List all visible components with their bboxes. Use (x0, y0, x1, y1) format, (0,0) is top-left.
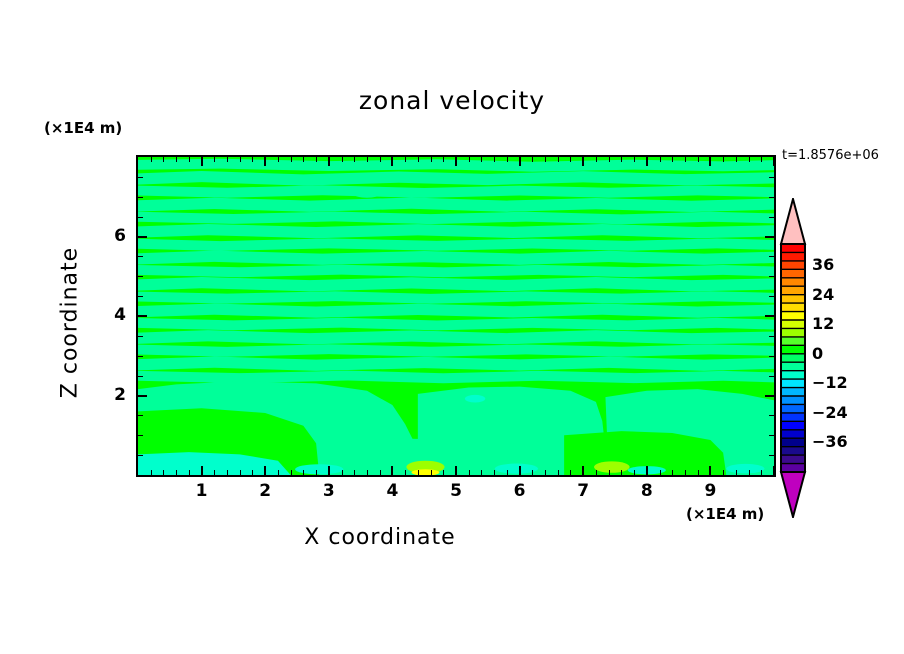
time-stamp-annotation: t=1.8576e+06 (782, 148, 879, 163)
x-tick-top (455, 157, 457, 166)
colorbar-band (781, 303, 805, 312)
y-tick (138, 376, 143, 377)
colorbar-band (781, 413, 805, 422)
y-tick-right (769, 197, 774, 198)
x-tick-top (609, 157, 610, 162)
y-tick (138, 177, 143, 178)
y-tick-right (769, 296, 774, 297)
x-tick-top (507, 157, 508, 162)
x-tick (214, 470, 215, 475)
contour-patch (465, 395, 485, 403)
colorbar-over-arrow (781, 199, 805, 244)
x-tick-top (646, 157, 648, 166)
x-tick-label: 6 (500, 481, 540, 501)
colorbar-band (781, 404, 805, 413)
x-tick-top (709, 157, 711, 166)
colorbar-band (781, 252, 805, 261)
x-tick-top (201, 157, 203, 166)
colorbar-band (781, 269, 805, 278)
y-tick (138, 276, 143, 277)
page-title: zonal velocity (0, 86, 904, 115)
colorbar-band (781, 337, 805, 346)
colorbar-band (781, 371, 805, 380)
x-tick-top (596, 157, 597, 162)
contour-field (138, 157, 774, 475)
y-axis-title: Z coordinate (58, 193, 83, 453)
x-tick (570, 470, 571, 475)
colorbar-tick-label: −36 (812, 432, 848, 451)
colorbar-under-arrow (781, 472, 805, 517)
x-tick-top (621, 157, 622, 162)
plot-canvas: zonal velocity (×1E4 m) t=1.8576e+06 (×1… (0, 0, 904, 654)
y-tick-right (769, 217, 774, 218)
x-tick-top (227, 157, 228, 162)
y-tick-right (765, 315, 774, 317)
x-tick (672, 470, 673, 475)
colorbar-band (781, 328, 805, 337)
colorbar-tick-label: −12 (812, 373, 848, 392)
x-tick-top (634, 157, 635, 162)
colorbar-tick-label: 0 (812, 344, 823, 363)
y-tick (138, 356, 143, 357)
colorbar-band (781, 286, 805, 295)
x-tick (163, 470, 164, 475)
x-tick-top (672, 157, 673, 162)
y-tick (138, 315, 147, 317)
x-tick (201, 466, 203, 475)
y-tick-right (769, 455, 774, 456)
x-tick-label: 7 (563, 481, 603, 501)
x-tick (303, 470, 304, 475)
x-tick-top (418, 157, 419, 162)
x-tick (773, 466, 775, 475)
x-tick-top (749, 157, 750, 162)
y-tick-right (765, 236, 774, 238)
y-tick-right (769, 336, 774, 337)
x-tick (455, 466, 457, 475)
x-tick-top (698, 157, 699, 162)
y-tick-right (769, 435, 774, 436)
x-tick-label: 8 (627, 481, 667, 501)
x-tick (532, 470, 533, 475)
x-tick-top (380, 157, 381, 162)
y-tick (138, 296, 143, 297)
x-tick (761, 470, 762, 475)
colorbar-band (781, 421, 805, 430)
x-tick-top (303, 157, 304, 162)
x-tick-top (278, 157, 279, 162)
x-tick (367, 470, 368, 475)
x-tick-top (431, 157, 432, 162)
colorbar-band (781, 261, 805, 270)
x-tick (545, 470, 546, 475)
y-tick-right (769, 177, 774, 178)
y-tick-right (769, 356, 774, 357)
y-tick (138, 256, 143, 257)
colorbar-band (781, 295, 805, 304)
x-tick (405, 470, 406, 475)
x-tick-top (367, 157, 368, 162)
x-tick-top (469, 157, 470, 162)
x-tick (609, 470, 610, 475)
colorbar-tick-label: 24 (812, 285, 834, 304)
x-tick-top (342, 157, 343, 162)
x-tick (431, 470, 432, 475)
colorbar-band (781, 244, 805, 253)
x-tick-top (773, 157, 775, 166)
colorbar-gradient (778, 198, 808, 518)
x-tick (291, 470, 292, 475)
x-tick-top (481, 157, 482, 162)
y-tick (138, 455, 143, 456)
x-tick-label: 5 (436, 481, 476, 501)
x-tick-top (494, 157, 495, 162)
x-tick-top (519, 157, 521, 166)
x-tick (582, 466, 584, 475)
x-tick (698, 470, 699, 475)
colorbar (778, 198, 808, 518)
x-tick (736, 470, 737, 475)
x-tick (391, 466, 393, 475)
x-tick-top (189, 157, 190, 162)
x-axis-title: X coordinate (0, 525, 760, 550)
colorbar-band (781, 312, 805, 321)
x-tick (380, 470, 381, 475)
colorbar-band (781, 388, 805, 397)
x-tick (621, 470, 622, 475)
x-tick-top (405, 157, 406, 162)
x-tick (354, 470, 355, 475)
x-tick-top (582, 157, 584, 166)
y-tick-right (765, 395, 774, 397)
x-tick (646, 466, 648, 475)
y-tick-right (769, 415, 774, 416)
x-tick (227, 470, 228, 475)
x-tick (558, 470, 559, 475)
x-tick (749, 470, 750, 475)
x-tick (596, 470, 597, 475)
contour-patch (295, 464, 343, 474)
x-tick (264, 466, 266, 475)
x-tick-top (328, 157, 330, 166)
x-tick-top (723, 157, 724, 162)
y-tick-label: 4 (90, 305, 126, 325)
x-tick-top (214, 157, 215, 162)
x-tick-top (354, 157, 355, 162)
colorbar-band (781, 320, 805, 329)
contour-patch (594, 461, 630, 472)
x-tick (723, 470, 724, 475)
colorbar-band (781, 430, 805, 439)
x-tick (418, 470, 419, 475)
colorbar-tick-label: 36 (812, 255, 834, 274)
x-tick (634, 470, 635, 475)
y-tick-right (769, 376, 774, 377)
x-tick-top (736, 157, 737, 162)
colorbar-band (781, 345, 805, 354)
x-tick (685, 470, 686, 475)
colorbar-band (781, 447, 805, 456)
y-tick-label: 6 (90, 226, 126, 246)
x-tick-top (660, 157, 661, 162)
x-tick (151, 470, 152, 475)
x-tick (660, 470, 661, 475)
colorbar-band (781, 362, 805, 371)
y-tick (138, 336, 143, 337)
x-tick (316, 470, 317, 475)
x-tick (519, 466, 521, 475)
x-tick (507, 470, 508, 475)
x-tick (709, 466, 711, 475)
x-tick (481, 470, 482, 475)
y-tick-label: 2 (90, 385, 126, 405)
x-tick-top (151, 157, 152, 162)
y-tick (138, 197, 143, 198)
x-tick-top (291, 157, 292, 162)
x-tick (240, 470, 241, 475)
x-tick-top (240, 157, 241, 162)
contour-plot-area (136, 155, 776, 477)
y-tick-right (769, 276, 774, 277)
contour-patch (354, 191, 379, 197)
y-tick (138, 415, 143, 416)
colorbar-tick-label: 12 (812, 314, 834, 333)
colorbar-tick-label: −24 (812, 403, 848, 422)
x-tick-top (570, 157, 571, 162)
x-tick (176, 470, 177, 475)
colorbar-band (781, 455, 805, 464)
x-tick-top (545, 157, 546, 162)
x-tick-label: 9 (690, 481, 730, 501)
x-tick-top (532, 157, 533, 162)
x-tick (443, 470, 444, 475)
x-tick-top (176, 157, 177, 162)
x-tick-top (264, 157, 266, 166)
y-tick (138, 217, 143, 218)
y-axis-unit-label: (×1E4 m) (44, 119, 122, 137)
x-tick (189, 470, 190, 475)
x-tick-label: 3 (309, 481, 349, 501)
colorbar-band (781, 438, 805, 447)
y-tick-right (769, 256, 774, 257)
colorbar-band (781, 396, 805, 405)
x-tick (278, 470, 279, 475)
x-tick-top (761, 157, 762, 162)
x-tick-top (163, 157, 164, 162)
x-tick-top (443, 157, 444, 162)
x-tick-label: 4 (372, 481, 412, 501)
x-tick (342, 470, 343, 475)
x-tick-top (558, 157, 559, 162)
colorbar-band (781, 354, 805, 363)
x-axis-unit-label: (×1E4 m) (686, 505, 764, 523)
x-tick-top (252, 157, 253, 162)
y-tick (138, 236, 147, 238)
y-tick (138, 435, 143, 436)
x-tick-label: 1 (182, 481, 222, 501)
contour-patch (726, 464, 764, 474)
colorbar-band (781, 278, 805, 287)
colorbar-band (781, 379, 805, 388)
x-tick (328, 466, 330, 475)
y-tick (138, 395, 147, 397)
x-tick-top (685, 157, 686, 162)
x-tick (494, 470, 495, 475)
x-tick-top (391, 157, 393, 166)
x-tick-top (316, 157, 317, 162)
x-tick-label: 2 (245, 481, 285, 501)
x-tick (469, 470, 470, 475)
x-tick (252, 470, 253, 475)
